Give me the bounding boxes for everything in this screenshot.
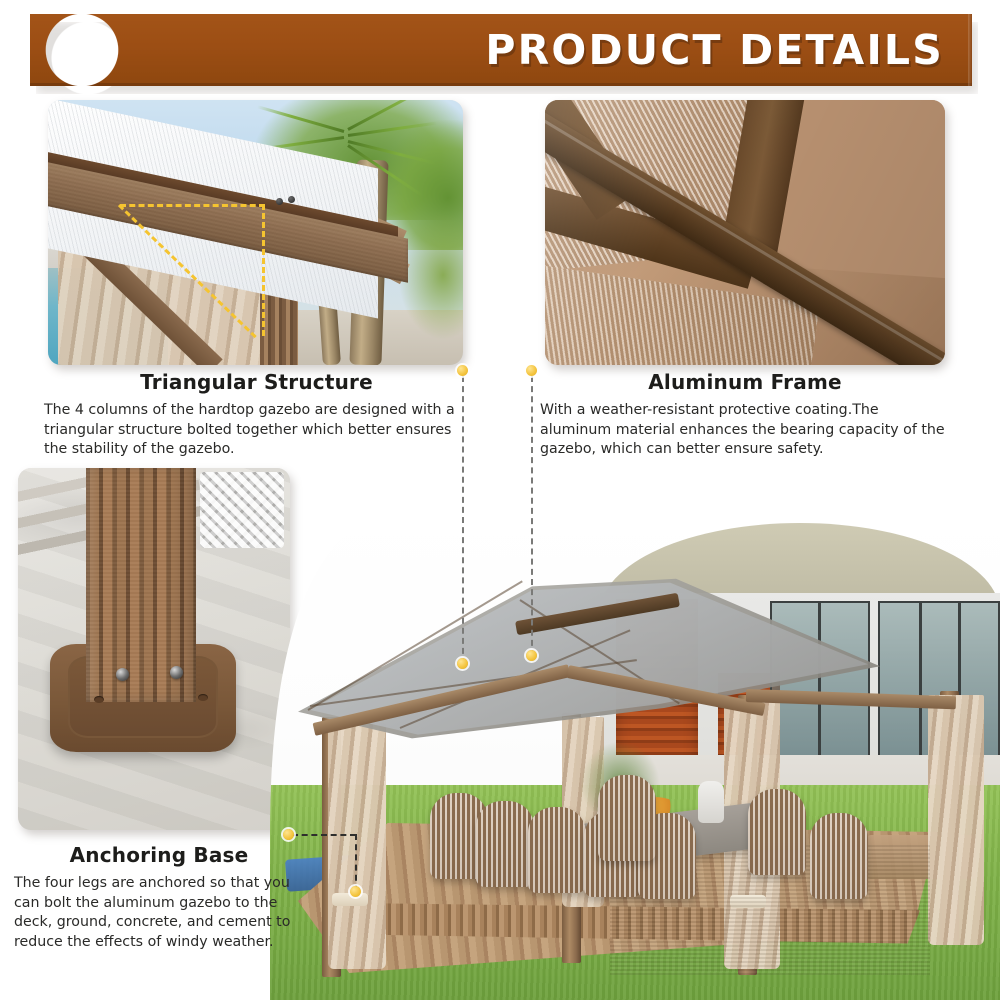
gazebo (280, 545, 880, 965)
bolt (276, 198, 283, 205)
anchor-hole (94, 696, 104, 703)
highlight-triangle-icon (120, 204, 265, 207)
banner-right-edge (968, 14, 972, 86)
photo-content (270, 505, 1000, 1000)
feature-text-aluminum-frame: Aluminum Frame With a weather-resistant … (540, 370, 950, 460)
anchor-screw (170, 666, 183, 679)
dining-chair (748, 789, 806, 875)
highlight-triangle-icon (262, 204, 265, 336)
feature-body: The 4 columns of the hardtop gazebo are … (44, 401, 469, 460)
connector-dot-icon (283, 829, 294, 840)
feature-heading: Triangular Structure (44, 370, 469, 394)
dining-chair (598, 775, 656, 861)
bolt (288, 196, 295, 203)
dining-chair (476, 801, 534, 887)
connector-dot-icon (350, 886, 361, 897)
connector-line-aluminum (531, 376, 533, 656)
photo-aluminum-frame (545, 100, 945, 365)
header-banner: PRODUCT DETAILS (30, 14, 972, 86)
curtain-tieback (332, 893, 368, 906)
page-title: PRODUCT DETAILS (485, 26, 944, 74)
infographic-page: PRODUCT DETAILS (0, 0, 1000, 1000)
connector-dot-icon (457, 658, 468, 669)
photo-content (48, 100, 463, 365)
dining-chair (528, 807, 586, 893)
anchor-screw (116, 668, 129, 681)
photo-anchoring-base (18, 468, 290, 830)
surface-sheen (545, 100, 945, 365)
feature-text-triangular-structure: Triangular Structure The 4 columns of th… (44, 370, 469, 460)
connector-dot-icon (526, 650, 537, 661)
banner-bottom-edge (30, 83, 972, 86)
vase (698, 781, 724, 823)
anchor-hole (198, 694, 208, 701)
connector-line-triangular (462, 376, 464, 664)
photo-gazebo-hero (270, 505, 1000, 1000)
feature-body: With a weather-resistant protective coat… (540, 401, 950, 460)
connector-line-anchor-horizontal (292, 834, 356, 836)
feature-heading: Aluminum Frame (540, 370, 950, 394)
window-mullion (919, 603, 922, 779)
gazebo-curtain (928, 695, 984, 945)
photo-triangular-structure (48, 100, 463, 365)
feature-body: The four legs are anchored so that you c… (14, 874, 304, 952)
dining-chair (810, 813, 868, 899)
connector-dot-icon (526, 365, 537, 376)
feature-heading: Anchoring Base (14, 843, 304, 867)
photo-content (545, 100, 945, 365)
connector-dot-icon (457, 365, 468, 376)
photo-content (18, 468, 290, 830)
connector-line-anchor-vertical (355, 834, 357, 891)
feature-text-anchoring-base: Anchoring Base The four legs are anchore… (14, 843, 304, 952)
